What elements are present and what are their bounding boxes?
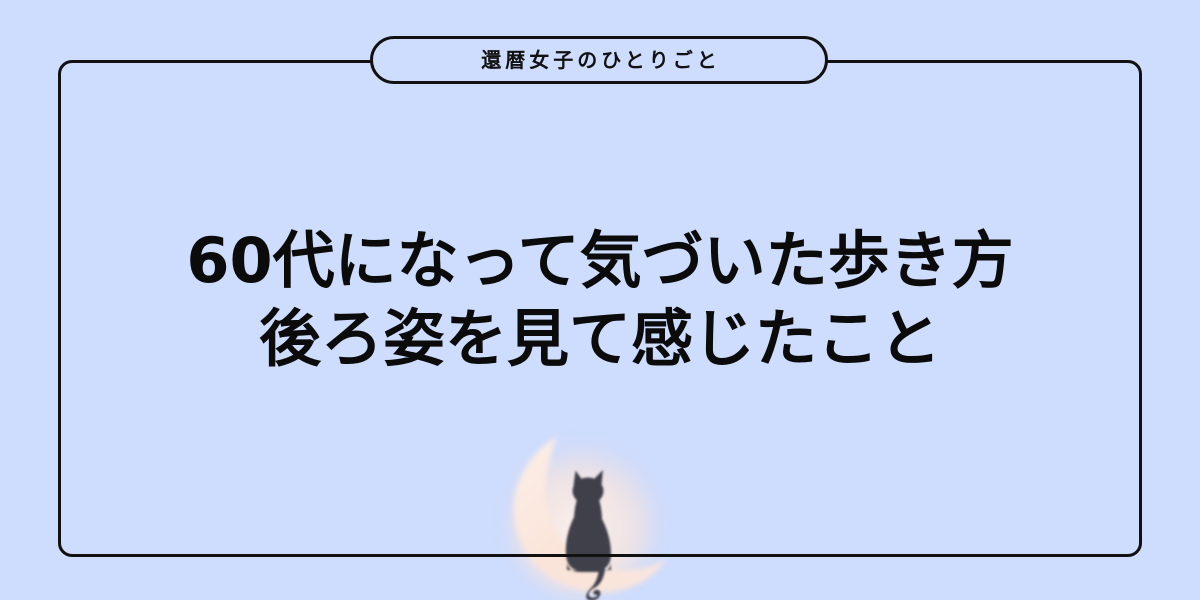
page-title: 60代になって気づいた歩き方 後ろ姿を見て感じたこと (0, 222, 1200, 378)
category-badge-label: 還暦女子のひとりごと (477, 50, 720, 70)
eyecatch-image: 還暦女子のひとりごと 60代になって気づいた歩き方 後ろ姿を見て感じたこと (0, 0, 1200, 600)
moon-and-cat-illustration (495, 425, 680, 600)
category-badge: 還暦女子のひとりごと (370, 36, 828, 84)
title-line-1: 60代になって気づいた歩き方 (0, 222, 1200, 300)
title-line-2: 後ろ姿を見て感じたこと (0, 300, 1200, 378)
